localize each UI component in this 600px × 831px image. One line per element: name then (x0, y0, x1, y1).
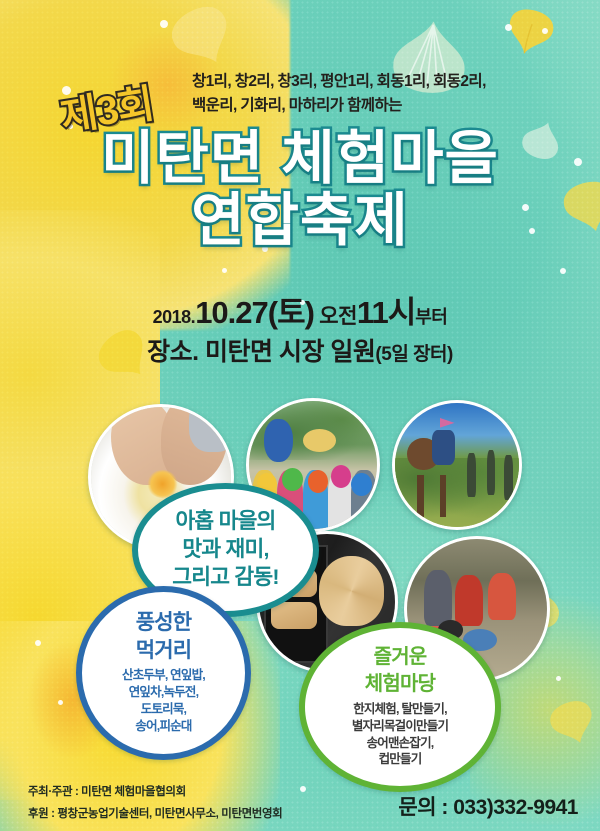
place-label: 장소. (147, 338, 198, 366)
host-line: 주최·주관 : 미탄면 체험마을협의회 (28, 781, 282, 803)
experience-item-line-2: 별자리목걸이만들기 (352, 718, 448, 735)
food-item-line-1: 산초두부, 연잎밥, (122, 667, 205, 684)
slogan-line-2: 맛과 재미, (182, 536, 268, 564)
title-line-2: 연합축제 (0, 190, 600, 252)
food-title-line-1: 풍성한 (136, 611, 192, 636)
contact-phone: 문의 : 033)332-9941 (398, 791, 578, 821)
festival-poster: 제3회 창1리, 창2리, 창3리, 평안1리, 회동1리, 회동2리, 백운리… (0, 0, 600, 831)
sponsor-line: 후원 : 평창군농업기술센터, 미탄면사무소, 미탄면번영회 (28, 803, 282, 825)
time-prefix: 오전 (319, 305, 357, 328)
date-daymonth: 10.27 (195, 295, 268, 330)
bubble-food: 풍성한 먹거리 산초두부, 연잎밥, 연잎차,녹두전, 도토리묵, 송어,피순대 (76, 586, 251, 760)
food-item-line-4: 송어,피순대 (135, 718, 191, 735)
place-name: 미탄면 시장 일원 (205, 338, 375, 366)
date-year: 2018. (153, 307, 196, 327)
time-suffix: 부터 (415, 307, 447, 327)
title-line-1: 미탄면 체험마을 (101, 126, 499, 191)
event-details: 2018.10.27(토) 오전11시부터 장소. 미탄면 시장 일원(5일 장… (0, 292, 600, 370)
time-value: 11시 (357, 295, 415, 330)
poster-footer: 주최·주관 : 미탄면 체험마을협의회 후원 : 평창군농업기술센터, 미탄면사… (0, 775, 600, 831)
slogan-line-1: 아홉 마을의 (175, 508, 275, 536)
photo-outdoor-art (392, 400, 522, 530)
page-title: 미탄면 체험마을 연합축제 (0, 128, 600, 252)
experience-title-line-1: 즐거운 (374, 646, 427, 670)
food-item-line-2: 연잎차,녹두전, (129, 684, 199, 701)
place-note: (5일 장터) (375, 344, 452, 365)
experience-item-line-3: 송어맨손잡기, (367, 735, 434, 752)
organizer-block: 주최·주관 : 미탄면 체험마을협의회 후원 : 평창군농업기술센터, 미탄면사… (28, 781, 282, 826)
subtitle: 창1리, 창2리, 창3리, 평안1리, 회동1리, 회동2리, 백운리, 기화… (192, 70, 592, 118)
experience-item-line-4: 컵만들기 (379, 751, 422, 768)
food-item-line-3: 도토리묵, (141, 701, 186, 718)
subtitle-line-1: 창1리, 창2리, 창3리, 평안1리, 회동1리, 회동2리, (192, 70, 592, 94)
experience-item-line-1: 한지체험, 탈만들기, (353, 701, 447, 718)
event-place-line: 장소. 미탄면 시장 일원(5일 장터) (0, 336, 600, 370)
experience-title-line-2: 체험마당 (365, 673, 435, 697)
bubble-experience: 즐거운 체험마당 한지체험, 탈만들기, 별자리목걸이만들기 송어맨손잡기, 컵… (299, 622, 501, 792)
date-weekday: (토) (268, 295, 314, 330)
event-date-line: 2018.10.27(토) 오전11시부터 (0, 292, 600, 334)
subtitle-line-2: 백운리, 기화리, 마하리가 함께하는 (192, 94, 592, 118)
food-title-line-2: 먹거리 (136, 639, 192, 664)
slogan-line-3: 그리고 감동! (172, 564, 278, 592)
